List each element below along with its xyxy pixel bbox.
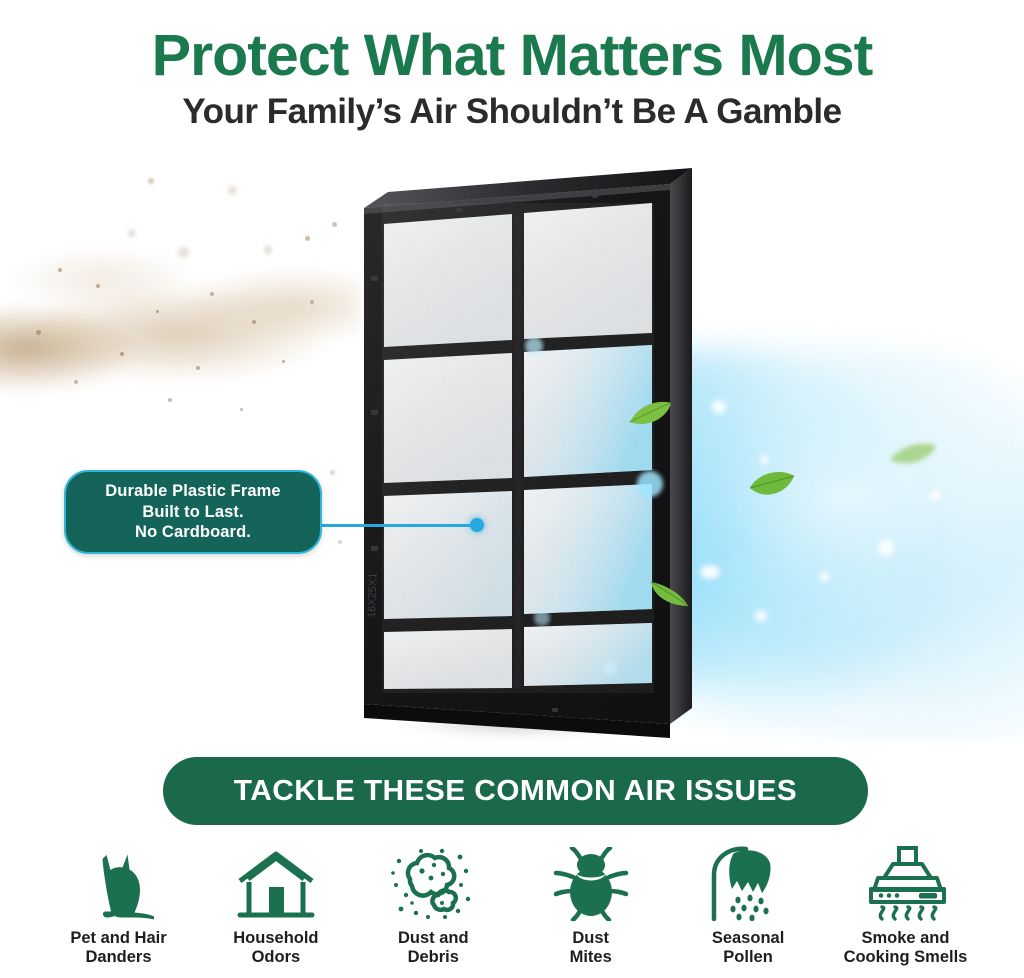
dust-mite-icon	[553, 843, 629, 921]
air-issues-row: Pet and Hair Danders Household Odors	[40, 843, 984, 978]
infographic-stage: Protect What Matters Most Your Family’s …	[0, 0, 1024, 978]
range-hood-icon	[863, 843, 947, 921]
cat-icon	[82, 843, 156, 921]
callout-line-2: Built to Last.	[105, 502, 280, 522]
pollen-flower-icon	[708, 843, 788, 921]
issue-item-dust-and-debris: Dust and Debris	[355, 843, 512, 967]
dust-speck	[264, 246, 272, 254]
dust-speck	[156, 310, 159, 313]
callout-line-3: No Cardboard.	[105, 522, 280, 542]
issue-item-smoke-and-cooking-smells: Smoke and Cooking Smells	[827, 843, 984, 967]
filter-media-panels	[384, 203, 652, 689]
issue-label: Dust and Debris	[398, 929, 469, 967]
dust-cloud-icon	[390, 843, 476, 921]
dust-speck	[128, 230, 135, 237]
dust-speck	[148, 178, 154, 184]
dust-speck	[332, 222, 337, 227]
bokeh-sparkle	[700, 565, 720, 579]
bokeh-sparkle	[930, 490, 941, 501]
leaf-icon	[748, 470, 796, 502]
dust-speck	[58, 268, 62, 272]
dust-speck	[178, 247, 189, 258]
dust-speck	[210, 292, 214, 296]
dust-speck	[240, 408, 243, 411]
dust-speck	[338, 540, 342, 544]
dust-speck	[330, 470, 335, 475]
dust-speck	[282, 360, 285, 363]
dust-speck	[196, 366, 200, 370]
dust-speck	[168, 398, 172, 402]
issue-item-household-odors: Household Odors	[197, 843, 354, 967]
bokeh-sparkle	[760, 455, 769, 464]
page-subtitle: Your Family’s Air Shouldn’t Be A Gamble	[0, 92, 1024, 132]
frame-molding-marks	[371, 194, 598, 712]
leaf-icon	[888, 440, 938, 468]
dust-speck	[228, 186, 237, 195]
house-icon	[234, 843, 318, 921]
svg-text:16X25X1: 16X25X1	[366, 572, 380, 618]
section-banner-label: TACKLE THESE COMMON AIR ISSUES	[234, 775, 797, 808]
callout-pointer-dot	[470, 518, 484, 532]
issue-label: Seasonal Pollen	[712, 929, 784, 967]
clean-air-glow	[560, 300, 1024, 740]
product-shadow	[352, 700, 682, 746]
clean-air-glow-secondary	[600, 350, 1024, 680]
bokeh-sparkle	[660, 490, 668, 498]
issue-label: Pet and Hair Danders	[70, 929, 166, 967]
leaf-icon	[628, 400, 672, 430]
issue-label: Dust Mites	[570, 929, 612, 967]
dust-speck	[310, 300, 314, 304]
issue-item-pet-and-hair-danders: Pet and Hair Danders	[40, 843, 197, 967]
issue-item-seasonal-pollen: Seasonal Pollen	[670, 843, 827, 967]
air-filter-product: 16X25X1	[352, 148, 704, 738]
bokeh-sparkle	[755, 610, 767, 622]
dust-speck	[36, 330, 41, 335]
issue-label: Smoke and Cooking Smells	[844, 929, 968, 967]
section-banner: TACKLE THESE COMMON AIR ISSUES	[163, 757, 868, 825]
dust-speck	[252, 320, 256, 324]
callout-line-1: Durable Plastic Frame	[105, 481, 280, 501]
callout-durable-frame: Durable Plastic Frame Built to Last. No …	[64, 470, 322, 554]
air-filter-illustration: 16X25X1	[352, 148, 704, 738]
dust-speck	[305, 236, 310, 241]
dust-speck	[120, 352, 124, 356]
issue-item-dust-mites: Dust Mites	[512, 843, 669, 967]
bokeh-sparkle	[820, 572, 830, 582]
bokeh-sparkle	[878, 540, 894, 556]
dust-speck	[74, 380, 78, 384]
dust-cloud	[0, 215, 360, 430]
callout-pointer-line	[318, 524, 482, 527]
page-title: Protect What Matters Most	[0, 22, 1024, 89]
dust-speck	[96, 284, 100, 288]
bokeh-sparkle	[712, 400, 726, 414]
leaf-icon	[648, 578, 690, 608]
issue-label: Household Odors	[233, 929, 318, 967]
